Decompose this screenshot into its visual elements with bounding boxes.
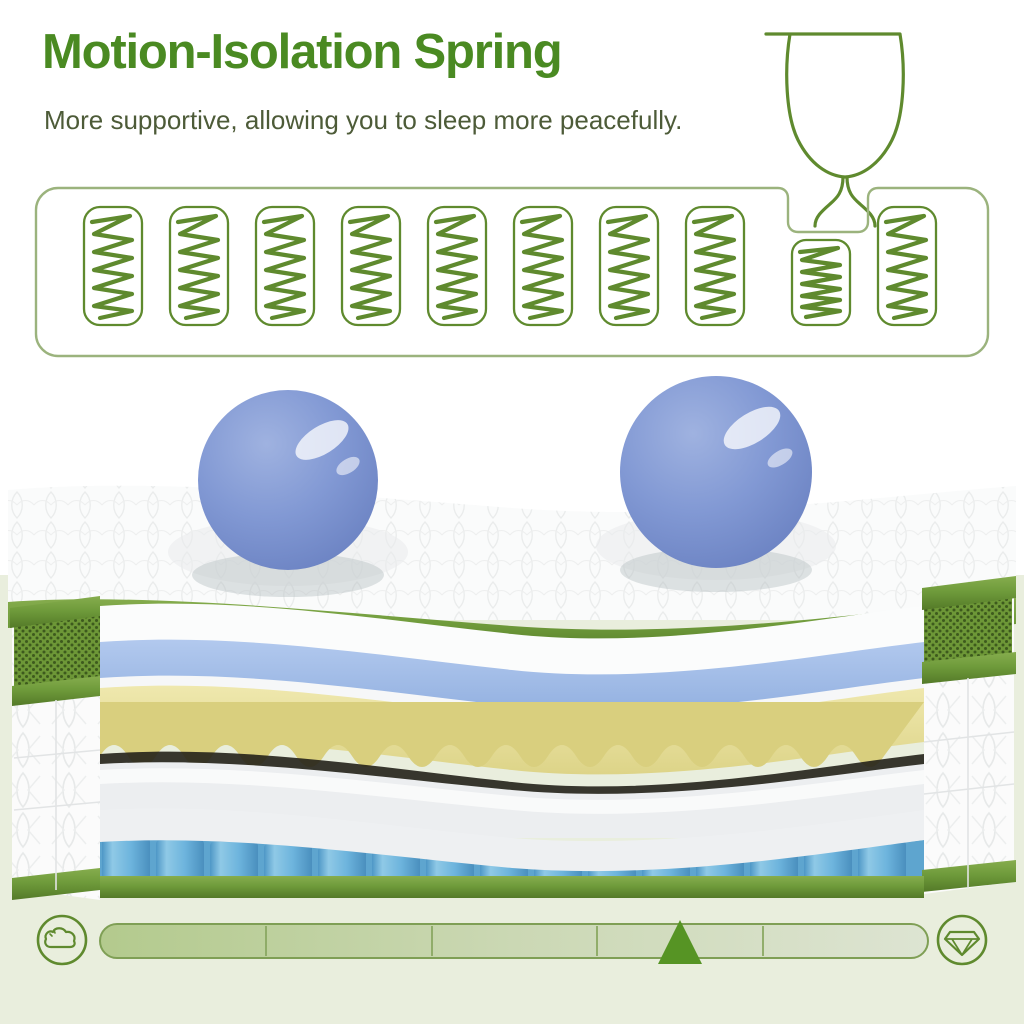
mattress-right-side [922,576,1016,894]
diamond-icon[interactable] [938,916,986,964]
demo-ball-right [620,376,812,592]
spring-row [84,207,936,325]
wine-glass-icon [766,34,903,226]
demo-ball-left [192,390,384,597]
product-infographic: Motion-Isolation Spring More supportive,… [0,0,1024,1024]
bottom-binding [100,876,924,898]
firmness-scale[interactable]: Extra Plush Plush Medium Medium Firm Ext… [0,900,1024,1010]
firmness-bar[interactable] [100,924,928,958]
mattress-cross-section [0,370,1024,910]
spring-diagram [0,0,1024,380]
cloud-icon[interactable] [38,916,86,964]
mattress-left-side [10,596,100,900]
